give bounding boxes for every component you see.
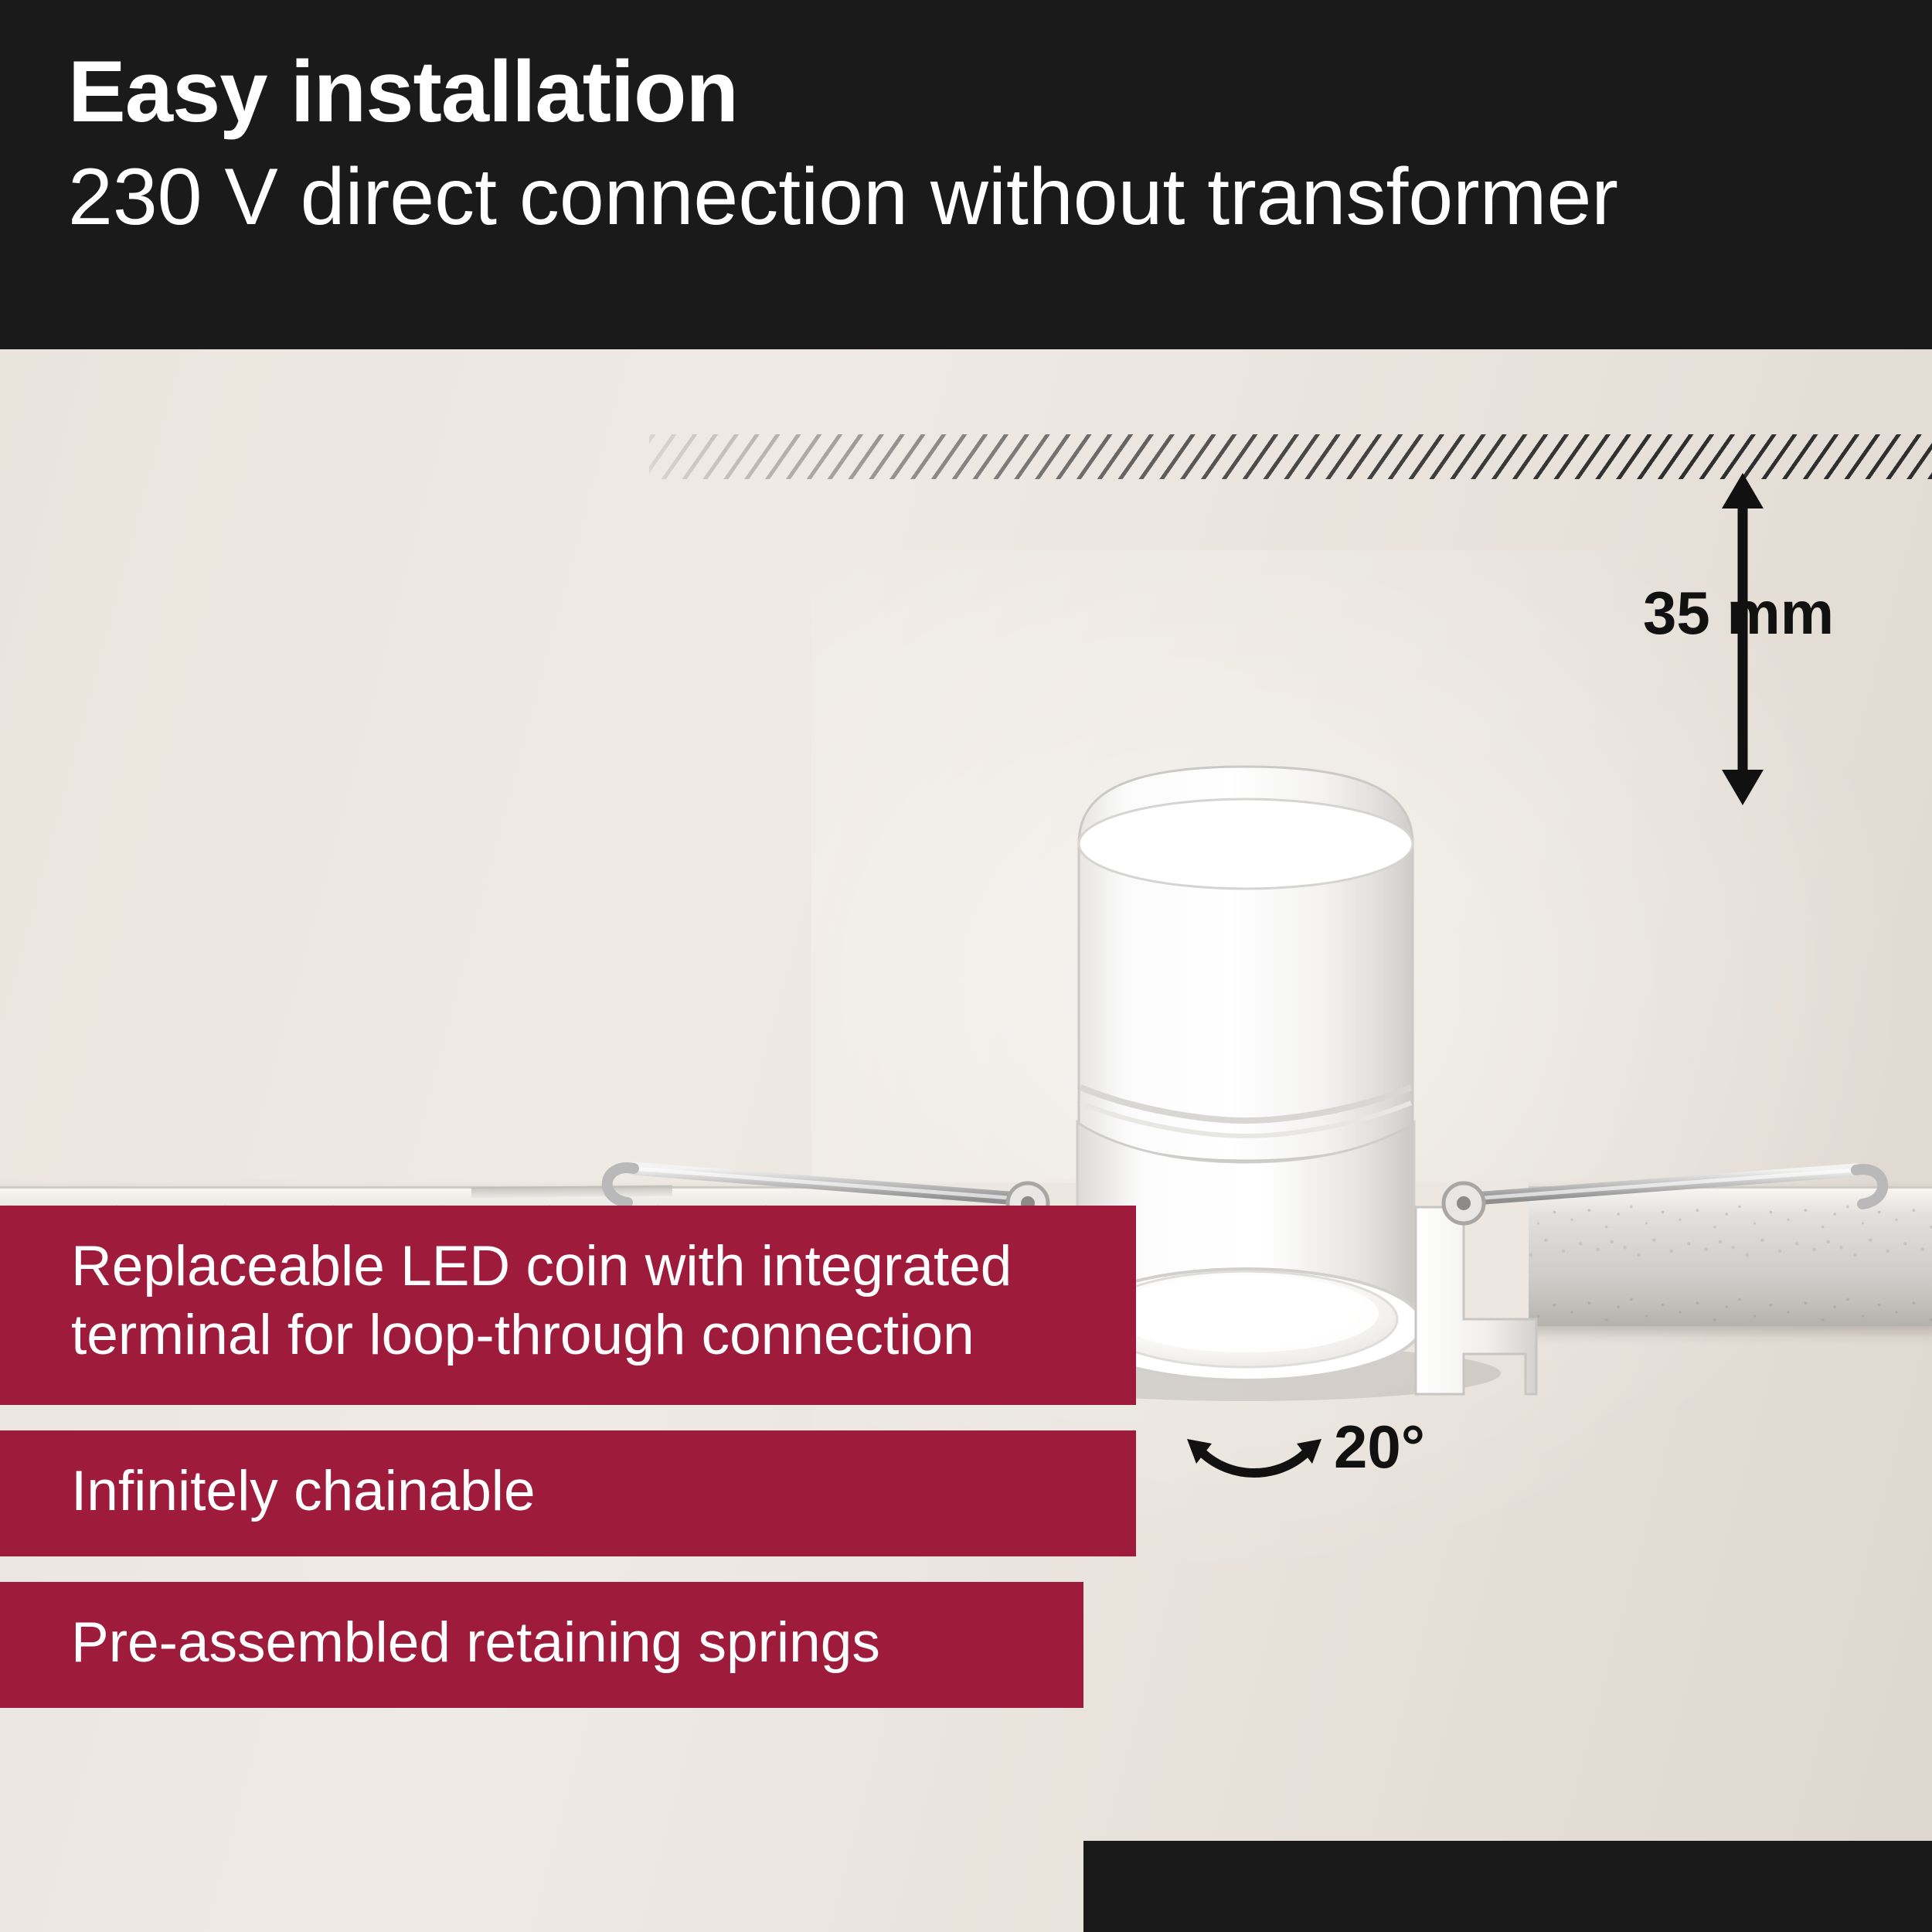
feature-item: Infinitely chainable <box>0 1430 1136 1556</box>
page-subtitle: 230 V direct connection without transfor… <box>68 151 1932 244</box>
header-banner: Easy installation 230 V direct connectio… <box>0 0 1932 349</box>
feature-list: Replaceable LED coin with integrated ter… <box>0 1206 1136 1708</box>
dimension-label: 35 mm <box>1643 578 1834 648</box>
page-title: Easy installation <box>68 46 1932 138</box>
swivel-arc-icon <box>1181 1423 1328 1493</box>
product-infographic: Easy installation 230 V direct connectio… <box>0 0 1932 1932</box>
feature-item: Replaceable LED coin with integrated ter… <box>0 1206 1136 1405</box>
feature-item: Pre-assembled retaining springs <box>0 1582 1083 1708</box>
bottom-dark-strip <box>1083 1841 1932 1932</box>
angle-label: 20° <box>1334 1412 1425 1482</box>
